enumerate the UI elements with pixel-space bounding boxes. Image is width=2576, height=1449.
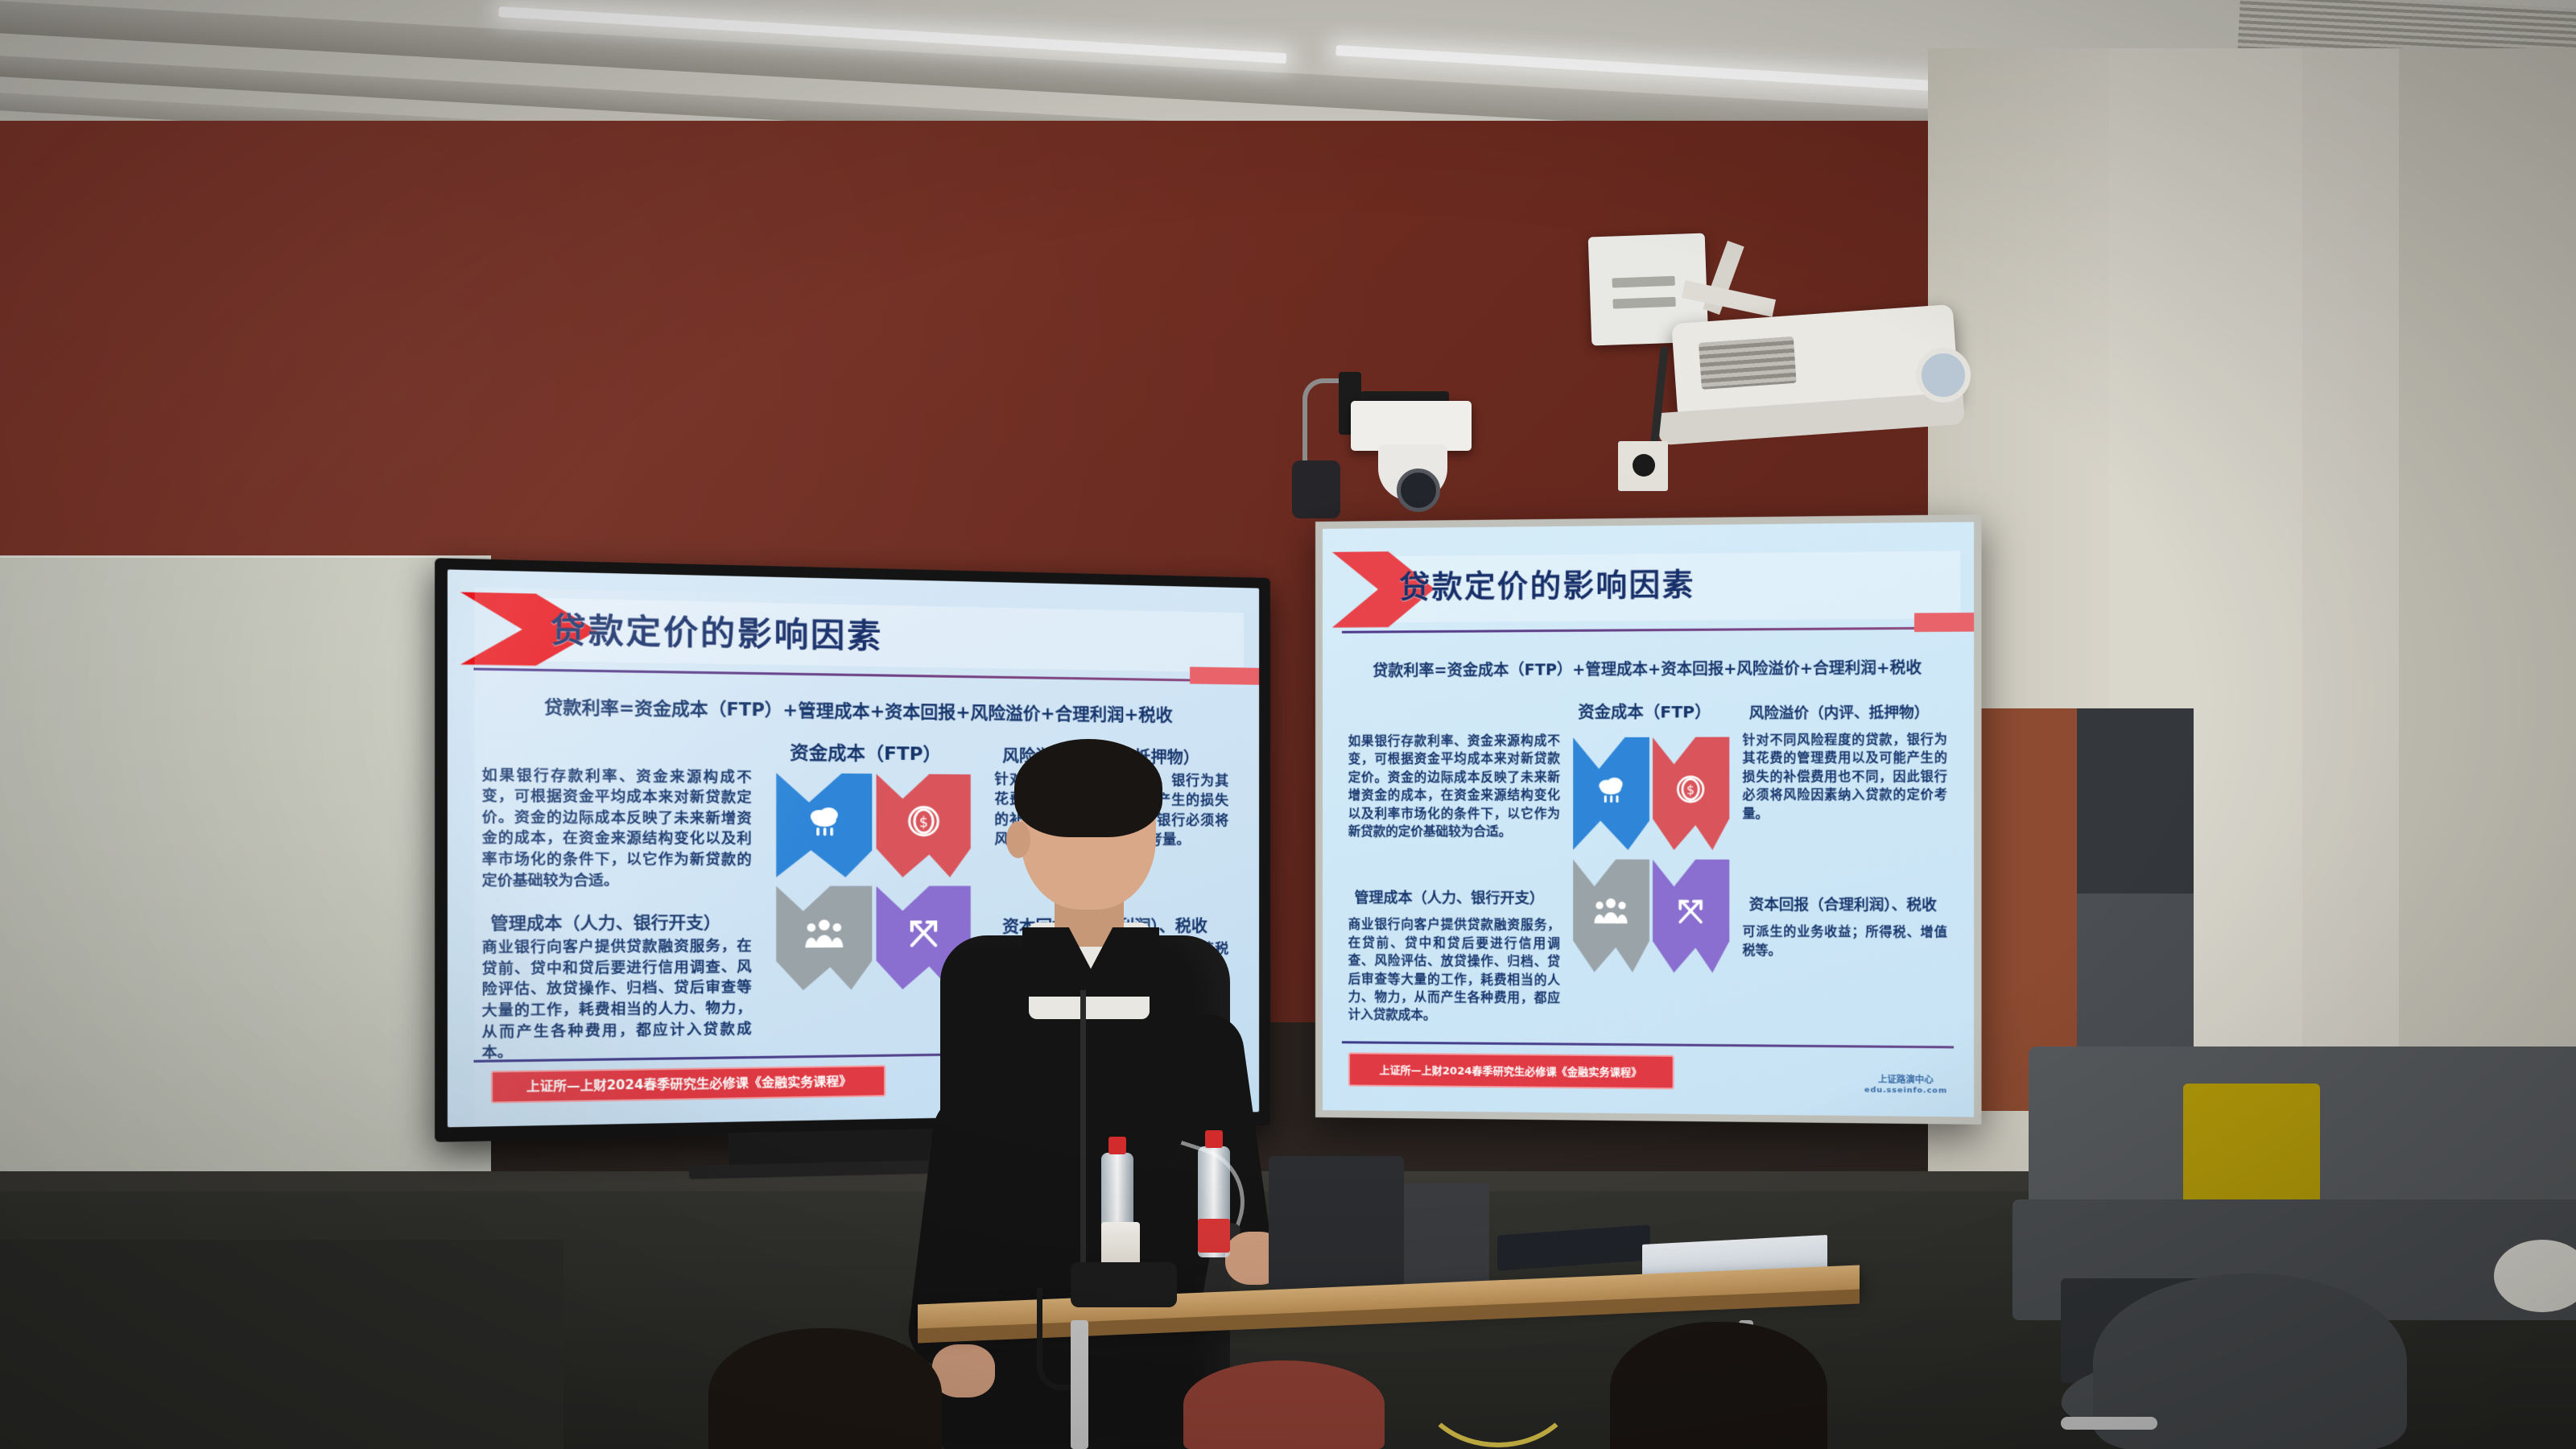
title-divider: [1342, 627, 1955, 634]
people-icon: [804, 919, 845, 949]
audience-member-head: [1610, 1322, 1827, 1449]
section-body-capital: 可派生的业务收益；所得税、增值税等。: [1743, 923, 1947, 960]
quadrant-risk: $: [1653, 737, 1729, 850]
section-heading-risk: 风险溢价（内评、抵押物）: [1749, 700, 1930, 722]
course-banner: 上证所—上财2024春季研究生必修课《金融实务课程》: [490, 1065, 885, 1103]
watermark-line2: edu.sseinfo.com: [1864, 1085, 1947, 1096]
yellow-cable: [1417, 1317, 1579, 1447]
watermark: 上证路演中心 edu.sseinfo.com: [1864, 1074, 1947, 1096]
people-icon: [1593, 898, 1629, 925]
yellow-cushion[interactable]: [2183, 1084, 2320, 1219]
bottle-cap: [1205, 1130, 1223, 1148]
section-body-risk: 针对不同风险程度的贷款，银行为其花费的管理费用以及可能产生的损失的补偿费用也不同…: [1743, 730, 1947, 823]
ptz-camera-body: [1351, 401, 1472, 451]
pricing-formula: 贷款利率=资金成本（FTP）+管理成本+资本回报+风险溢价+合理利润+税收: [490, 693, 1220, 728]
title-tab-accent: [1190, 667, 1259, 684]
wall-socket-plate[interactable]: [1618, 441, 1668, 491]
slide-projected: 贷款定价的影响因素 贷款利率=资金成本（FTP）+管理成本+资本回报+风险溢价+…: [1323, 522, 1974, 1117]
page-title: 贷款定价的影响因素: [551, 602, 883, 657]
screen-surface[interactable]: 贷款定价的影响因素 贷款利率=资金成本（FTP）+管理成本+资本回报+风险溢价+…: [1323, 522, 1974, 1117]
quadrant-management: [776, 886, 872, 991]
quadrant-diagram: $: [1573, 737, 1729, 972]
presenter-hair: [1014, 739, 1162, 837]
footer-divider: [1342, 1041, 1955, 1048]
projection-screen[interactable]: 贷款定价的影响因素 贷款利率=资金成本（FTP）+管理成本+资本回报+风险溢价+…: [1315, 514, 1982, 1125]
section-body-management: 商业银行向客户提供贷款融资服务，在贷前、贷中和贷后要进行信用调查、风险评估、放贷…: [482, 936, 752, 1064]
desk-phone[interactable]: [1071, 1262, 1177, 1307]
lecture-hall-scene: 贷款定价的影响因素 贷款利率=资金成本（FTP）+管理成本+资本回报+风险溢价+…: [0, 0, 2576, 1449]
section-body-ftp: 如果银行存款利率、资金来源构成不变，可根据资金平均成本来对新贷款定价。资金的边际…: [482, 765, 752, 891]
quadrant-capital: [1653, 860, 1729, 973]
eyeglasses: [2061, 1417, 2157, 1430]
watermark-line1: 上证路演中心: [1864, 1074, 1947, 1086]
section-heading-management: 管理成本（人力、银行开支）: [490, 909, 720, 935]
bottle-label: [1198, 1219, 1230, 1253]
quadrant-ftp: [776, 773, 872, 877]
projector-lens-icon: [1916, 348, 1971, 402]
svg-text:$: $: [1686, 782, 1695, 797]
quadrant-ftp: [1573, 737, 1649, 850]
office-chair[interactable]: [1183, 1360, 1385, 1449]
section-body-ftp: 如果银行存款利率、资金来源构成不变，可根据资金平均成本来对新贷款定价。资金的边际…: [1348, 732, 1560, 841]
dollar-coin-icon: $: [1675, 774, 1707, 805]
page-title: 贷款定价的影响因素: [1399, 559, 1695, 606]
cloud-rain-icon: [1595, 774, 1628, 803]
quadrant-management: [1573, 860, 1649, 972]
section-heading-capital: 资本回报（合理利润）、税收: [1749, 894, 1937, 915]
acoustic-panel-dark: [2077, 708, 2194, 894]
section-heading-management: 管理成本（人力、银行开支）: [1355, 886, 1545, 908]
water-bottle[interactable]: [1198, 1146, 1230, 1257]
camera-lens-icon: [1397, 469, 1440, 512]
crossed-arrows-icon: [1676, 897, 1706, 927]
ceiling-speaker: [1292, 460, 1340, 518]
title-tab-accent: [1914, 613, 1974, 632]
section-body-management: 商业银行向客户提供贷款融资服务，在贷前、贷中和贷后要进行信用调查、风险评估、放贷…: [1348, 915, 1560, 1026]
cloud-rain-icon: [806, 804, 844, 838]
presenter-ear: [1006, 821, 1030, 858]
desk-leg: [1071, 1320, 1088, 1449]
bottle-cap: [1108, 1137, 1126, 1154]
audience-member-head: [708, 1328, 942, 1449]
lower-wall-dado-left: [0, 1240, 563, 1449]
podium-monitor[interactable]: [1269, 1156, 1404, 1306]
course-banner: 上证所—上财2024春季研究生必修课《金融实务课程》: [1348, 1052, 1674, 1088]
pricing-formula: 贷款利率=资金成本（FTP）+管理成本+资本回报+风险溢价+合理利润+税收: [1355, 656, 1941, 681]
